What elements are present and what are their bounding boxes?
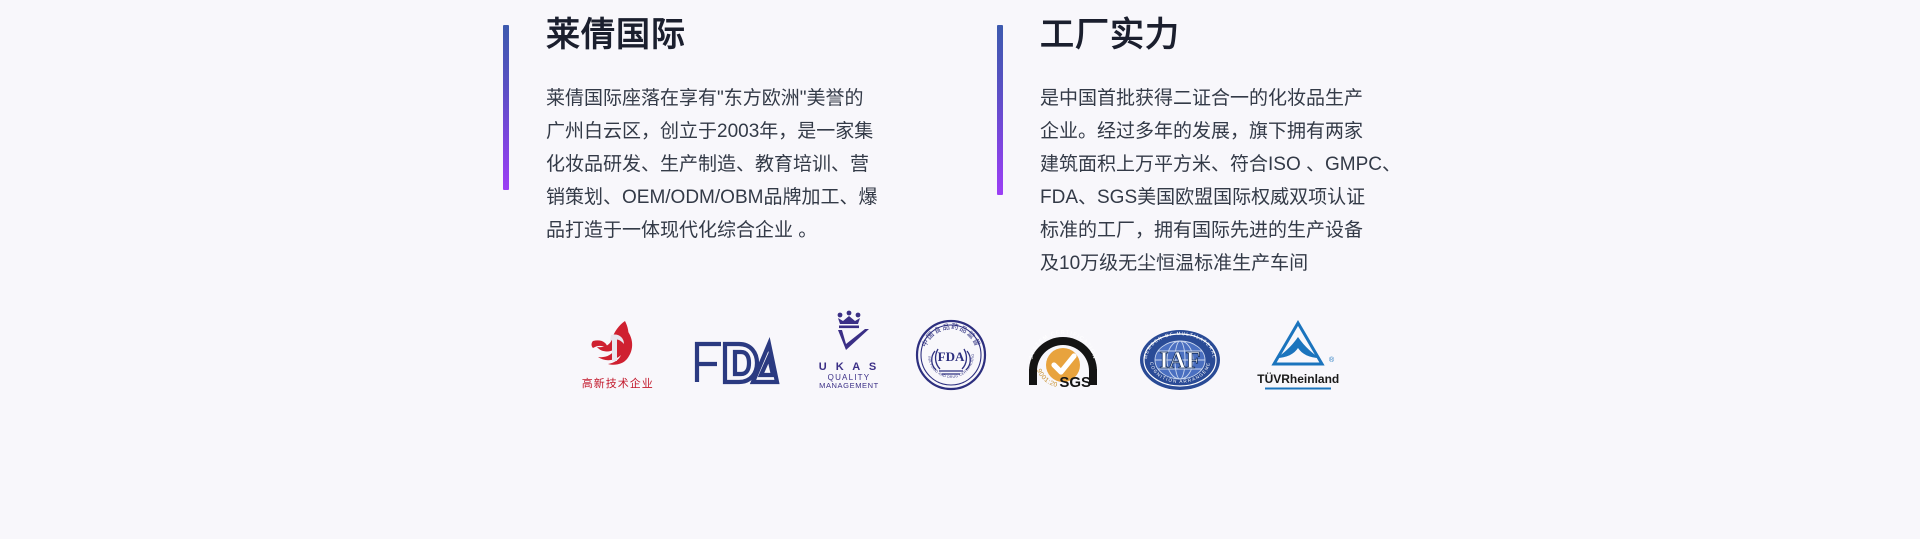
svg-text:®: ®: [1329, 356, 1335, 364]
ukas-icon: [821, 310, 877, 358]
paragraph-line: 品打造于一体现代化综合企业 。: [546, 214, 877, 247]
logo-high-tech-enterprise: 高新技术企业: [581, 305, 655, 391]
accent-bar-right: [997, 25, 1003, 195]
cfda-ring-text-top: 中国食品药品监督: [920, 322, 983, 349]
column-body-left: 莱倩国际 莱倩国际座落在享有"东方欧洲"美誉的 广州白云区，创立于2003年，是…: [546, 0, 877, 247]
paragraph-company-intro: 莱倩国际座落在享有"东方欧洲"美誉的 广州白云区，创立于2003年，是一家集 化…: [546, 82, 877, 247]
sgs-icon: SYSTEM CERTIFICATION ISO 9001:2000 SGS: [1023, 325, 1103, 391]
column-company-intro: 莱倩国际 莱倩国际座落在享有"东方欧洲"美誉的 广州白云区，创立于2003年，是…: [503, 0, 923, 280]
paragraph-factory-strength: 是中国首批获得二证合一的化妆品生产 企业。经过多年的发展，旗下拥有两家 建筑面积…: [1040, 82, 1401, 280]
page-root: 莱倩国际 莱倩国际座落在享有"东方欧洲"美誉的 广州白云区，创立于2003年，是…: [0, 0, 1920, 539]
paragraph-line: FDA、SGS美国欧盟国际权威双项认证: [1040, 181, 1401, 214]
logo-caption: 高新技术企业: [582, 378, 654, 391]
ukas-caption-line1: U K A S: [819, 361, 880, 374]
cfda-label: FDA: [938, 349, 965, 364]
tuv-underline-icon: [1261, 387, 1335, 391]
heading-factory-strength: 工厂实力: [1040, 18, 1401, 52]
logo-iaf: MEMBER OF MULTILATERAL RECOGNITION ARRAN…: [1139, 305, 1221, 391]
paragraph-line: 标准的工厂，拥有国际先进的生产设备: [1040, 214, 1401, 247]
column-factory-strength: 工厂实力 是中国首批获得二证合一的化妆品生产 企业。经过多年的发展，旗下拥有两家…: [997, 0, 1417, 280]
ukas-caption-line3: MANAGEMENT: [819, 382, 880, 391]
cfda-seal-icon: 中国食品药品监督 CHINA FOOD AND DRUG CERTIFICATI…: [915, 319, 987, 391]
iaf-icon: MEMBER OF MULTILATERAL RECOGNITION ARRAN…: [1139, 329, 1221, 391]
column-body-right: 工厂实力 是中国首批获得二证合一的化妆品生产 企业。经过多年的发展，旗下拥有两家…: [1040, 0, 1401, 280]
iaf-label: IAF: [1160, 348, 1201, 374]
logo-tuv-rheinland: ® TÜVRheinland: [1257, 305, 1339, 391]
paragraph-line: 莱倩国际座落在享有"东方欧洲"美誉的: [546, 82, 877, 115]
heading-company-intro: 莱倩国际: [546, 18, 877, 52]
paragraph-line: 及10万级无尘恒温标准生产车间: [1040, 247, 1401, 280]
paragraph-line: 化妆品研发、生产制造、教育培训、营: [546, 148, 877, 181]
paragraph-line: 是中国首批获得二证合一的化妆品生产: [1040, 82, 1401, 115]
paragraph-line: 企业。经过多年的发展，旗下拥有两家: [1040, 115, 1401, 148]
logo-caption: TÜVRheinland: [1257, 373, 1339, 387]
logo-ukas: U K A S QUALITY MANAGEMENT: [819, 305, 880, 391]
fda-icon: [691, 336, 783, 388]
paragraph-line: 销策划、OEM/ODM/OBM品牌加工、爆: [546, 181, 877, 214]
high-tech-enterprise-icon: [581, 319, 655, 375]
svg-text:中国食品药品监督: 中国食品药品监督: [920, 322, 983, 349]
logo-caption: U K A S QUALITY MANAGEMENT: [819, 361, 880, 391]
logo-cfda: 中国食品药品监督 CHINA FOOD AND DRUG CERTIFICATI…: [915, 305, 987, 391]
content-columns: 莱倩国际 莱倩国际座落在享有"东方欧洲"美誉的 广州白云区，创立于2003年，是…: [0, 0, 1920, 280]
certification-logo-strip: 高新技术企业: [0, 305, 1920, 391]
sgs-label: SGS: [1060, 374, 1092, 391]
paragraph-line: 建筑面积上万平方米、符合ISO 、GMPC、: [1040, 148, 1401, 181]
logo-sgs: SYSTEM CERTIFICATION ISO 9001:2000 SGS: [1023, 305, 1103, 391]
logo-fda: [691, 305, 783, 391]
paragraph-line: 广州白云区，创立于2003年，是一家集: [546, 115, 877, 148]
accent-bar-left: [503, 25, 509, 190]
tuv-rheinland-icon: ®: [1261, 320, 1335, 370]
